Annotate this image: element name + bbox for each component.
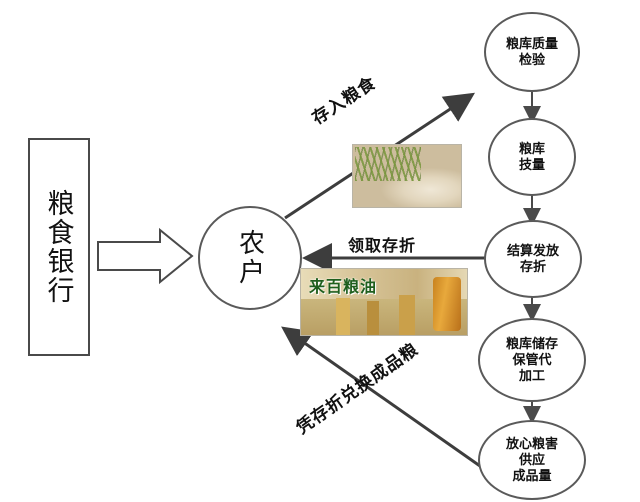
node-bank-label: 粮食银行 xyxy=(28,138,90,356)
photo-oil-caption: 来百粮油 xyxy=(309,273,377,297)
arrow-label-get-passbook: 领取存折 xyxy=(348,232,416,256)
connector-exchange-product xyxy=(286,330,480,466)
diagram-canvas: 粮食银行 农户 粮库质量 检验 粮库 技量 结算发放 存折 粮库储存 保管代 加… xyxy=(0,0,640,502)
node-farmer-label: 农户 xyxy=(198,206,302,310)
arrow-label-deposit-grain: 存入粮食 xyxy=(306,69,380,129)
grain-and-oil-products-photo: 来百粮油 xyxy=(300,268,468,336)
node-supply-label: 放心粮害 供应 成品量 xyxy=(478,420,586,500)
connector-bank-to-farmer xyxy=(98,230,192,282)
arrow-label-exchange-product: 凭存折兑换成品粮 xyxy=(290,335,422,438)
node-store-label: 粮库储存 保管代 加工 xyxy=(478,318,586,402)
node-weigh-label: 粮库 技量 xyxy=(488,118,576,196)
node-settle-label: 结算发放 存折 xyxy=(484,220,582,298)
node-quality-check-label: 粮库质量 检验 xyxy=(484,12,580,92)
rice-plant-and-grain-photo xyxy=(352,144,462,208)
